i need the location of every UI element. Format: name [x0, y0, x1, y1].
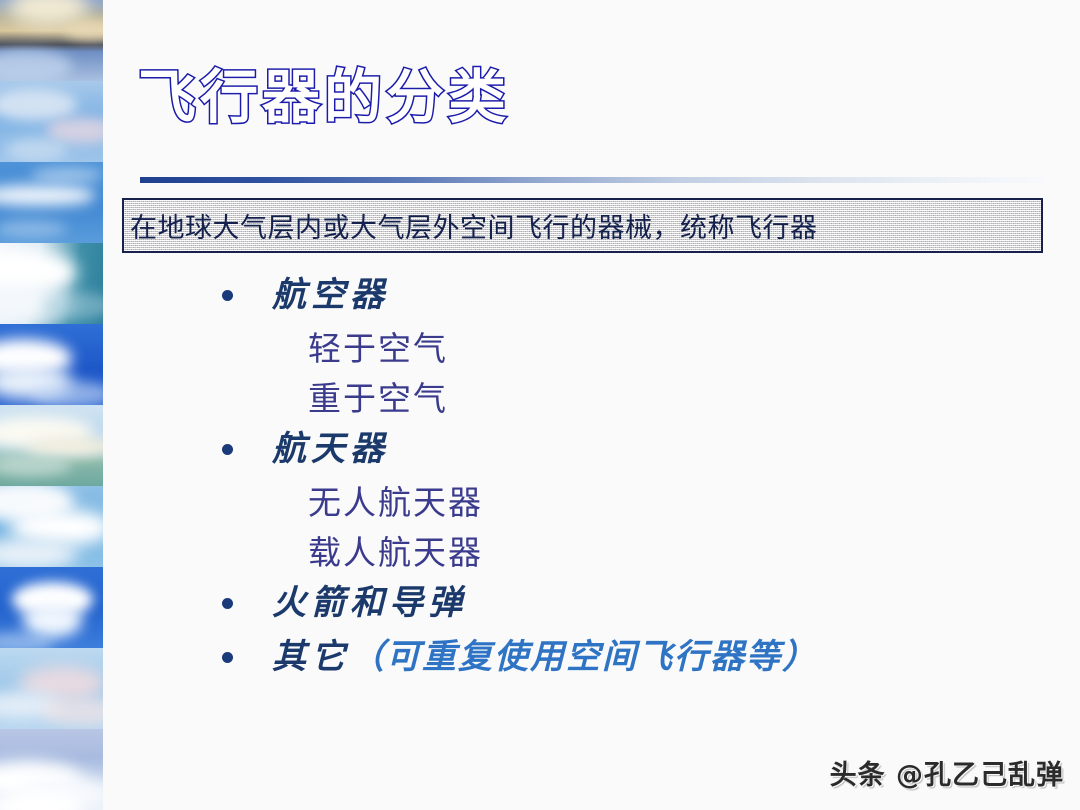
photo-tile-blue-sky-streaky-cloud — [0, 162, 103, 243]
bullet-item: 火箭和导弹 — [222, 580, 1022, 634]
photo-tile-royal-blue-feathery-cloud — [0, 324, 103, 405]
sub-item-label: 轻于空气 — [308, 329, 448, 368]
sub-item: 载人航天器 — [222, 530, 1022, 580]
sub-item-label: 无人航天器 — [308, 483, 483, 522]
title-divider — [140, 177, 1043, 183]
presentation-slide: 飞行器的分类 在地球大气层内或大气层外空间飞行的器械，统称飞行器 航空器 轻于空… — [0, 0, 1080, 810]
bullet-list: 航空器 轻于空气 重于空气 航天器 无人航天器 载人航天器 火箭和导弹 其它（可… — [222, 272, 1022, 688]
photo-tile-white-cumulus-teal-sky — [0, 243, 103, 324]
photo-tile-deep-blue-thunderhead — [0, 567, 103, 648]
bullet-item: 航天器 — [222, 426, 1022, 480]
sub-item: 无人航天器 — [222, 480, 1022, 530]
bullet-label: 其它（可重复使用空间飞行器等） — [272, 634, 818, 680]
slide-title: 飞行器的分类 — [138, 68, 510, 126]
photo-tile-cloud-deck-over-sea — [0, 405, 103, 486]
bullet-dot-icon — [222, 444, 233, 455]
cloud-photo-strip — [0, 0, 103, 810]
bullet-label: 火箭和导弹 — [272, 580, 467, 626]
photo-tile-billowing-white-cumulus — [0, 486, 103, 567]
watermark: 头条 @孔乙己乱弹 — [830, 753, 1064, 792]
photo-tile-lavender-sky-cloud-bank — [0, 729, 103, 810]
bullet-label: 航天器 — [272, 426, 389, 472]
bullet-dot-icon — [222, 290, 233, 301]
photo-tile-pink-lit-cloud — [0, 648, 103, 729]
bullet-item: 航空器 — [222, 272, 1022, 326]
sub-item: 重于空气 — [222, 376, 1022, 426]
definition-text: 在地球大气层内或大气层外空间飞行的器械，统称飞行器 — [124, 206, 818, 245]
bullet-dot-icon — [222, 598, 233, 609]
bullet-dot-icon — [222, 652, 233, 663]
definition-box: 在地球大气层内或大气层外空间飞行的器械，统称飞行器 — [122, 198, 1043, 253]
bullet-label-parenthetical: （可重复使用空间飞行器等） — [350, 637, 818, 677]
bullet-label: 航空器 — [272, 272, 389, 318]
sub-item: 轻于空气 — [222, 326, 1022, 376]
photo-tile-pale-blue-sky-pink-clouds — [0, 81, 103, 162]
sub-item-label: 载人航天器 — [308, 533, 483, 572]
bullet-item: 其它（可重复使用空间飞行器等） — [222, 634, 1022, 688]
bullet-label-main: 其它 — [272, 637, 350, 677]
sub-item-label: 重于空气 — [308, 379, 448, 418]
photo-tile-sunset-clouds — [0, 0, 103, 81]
